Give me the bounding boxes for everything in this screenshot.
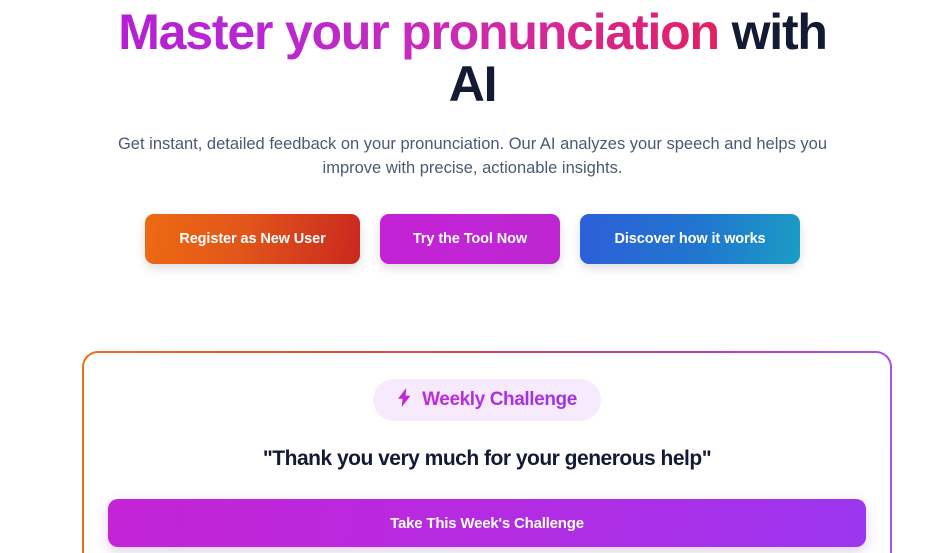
bolt-icon [397,388,412,411]
hero-subtitle: Get instant, detailed feedback on your p… [103,132,843,180]
take-this-weeks-challenge-button[interactable]: Take This Week's Challenge [108,499,866,547]
register-as-new-user-button[interactable]: Register as New User [145,214,360,264]
weekly-challenge-card-inner: Weekly Challenge "Thank you very much fo… [84,353,890,553]
hero-section: Master your pronunciation with AI Get in… [0,0,945,264]
challenge-quote: "Thank you very much for your generous h… [84,447,890,471]
weekly-challenge-card: Weekly Challenge "Thank you very much fo… [82,351,892,553]
headline-gradient-text: Master your pronunciation [118,4,719,60]
discover-how-it-works-button[interactable]: Discover how it works [580,214,800,264]
landing-page: Master your pronunciation with AI Get in… [0,0,945,553]
try-the-tool-now-button[interactable]: Try the Tool Now [380,214,560,264]
weekly-challenge-badge-label: Weekly Challenge [422,390,577,409]
weekly-challenge-badge: Weekly Challenge [373,379,601,421]
hero-cta-row: Register as New User Try the Tool Now Di… [0,214,945,264]
page-title: Master your pronunciation with AI [93,6,853,110]
